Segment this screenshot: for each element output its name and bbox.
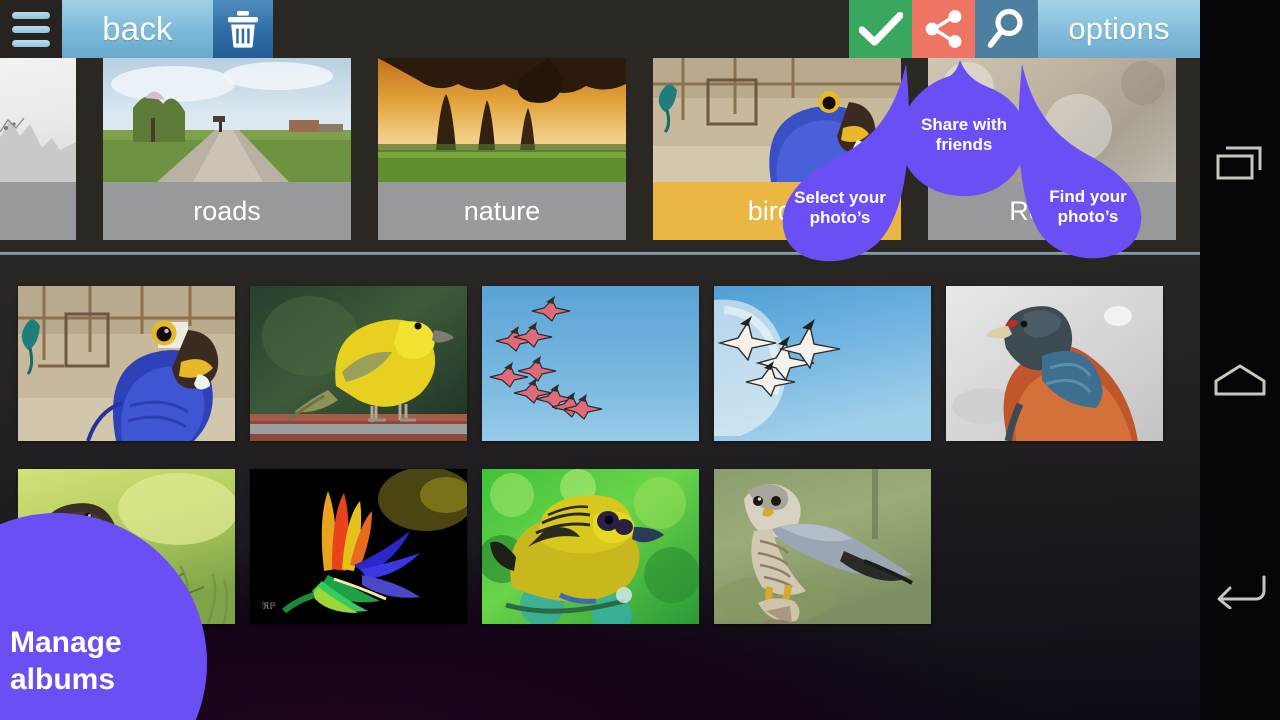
hamburger-menu-icon [12, 40, 50, 47]
album-item[interactable] [0, 58, 76, 240]
yellow-canary-photo[interactable] [250, 286, 467, 441]
hamburger-menu-icon [12, 12, 50, 19]
tooltip-text: Manage albums [4, 624, 194, 699]
hamburger-menu-button[interactable] [0, 0, 62, 58]
search-button[interactable] [975, 0, 1038, 58]
home-icon [1214, 363, 1266, 397]
album-label: nature [378, 182, 626, 240]
back-button[interactable]: back [62, 0, 213, 58]
album-label: roads [103, 182, 351, 240]
delete-button[interactable] [213, 0, 273, 58]
recents-button[interactable] [1200, 110, 1280, 220]
share-icon [924, 9, 964, 49]
svg-text:ℜℙ: ℜℙ [262, 601, 276, 611]
back-button-nav[interactable] [1200, 535, 1280, 645]
photo-grid-row [18, 286, 1182, 441]
flamingos-flying-photo[interactable] [482, 286, 699, 441]
green-yellow-tanager-photo[interactable] [482, 469, 699, 624]
album-item-nature[interactable]: nature [378, 58, 626, 240]
tooltip-share-friends[interactable]: Share with friends [898, 60, 1030, 200]
top-toolbar: back [0, 0, 1200, 58]
magnifier-icon [987, 8, 1027, 50]
album-item-roads[interactable]: roads [103, 58, 351, 240]
back-arrow-icon [1214, 571, 1266, 609]
screen-root: back [0, 0, 1280, 720]
check-icon [859, 11, 903, 47]
home-button[interactable] [1200, 325, 1280, 435]
tooltip-text: Find your photo’s [1025, 187, 1151, 226]
blue-orange-bird-photo[interactable] [946, 286, 1163, 441]
tooltip-text: Share with friends [902, 115, 1026, 154]
options-button[interactable]: options [1038, 0, 1200, 58]
android-navigation-bar [1200, 0, 1280, 720]
album-label [0, 182, 76, 240]
bird-of-paradise-flower-photo[interactable]: ℜℙ [250, 469, 467, 624]
select-photos-button[interactable] [849, 0, 912, 58]
tooltip-find-photos[interactable]: Find your photo’s [1018, 62, 1152, 260]
album-thumbnail [103, 58, 351, 182]
trash-icon [226, 10, 260, 48]
falcon-on-post-photo[interactable] [714, 469, 931, 624]
album-thumbnail [0, 58, 76, 182]
blue-macaw-photo[interactable] [18, 286, 235, 441]
tooltip-text: Select your photo’s [774, 188, 906, 227]
toolbar-spacer [273, 0, 849, 58]
album-thumbnail [378, 58, 626, 182]
share-button[interactable] [912, 0, 975, 58]
tooltip-manage-albums[interactable]: Manage albums [0, 513, 207, 720]
gallery-app: back [0, 0, 1200, 720]
recents-icon [1216, 146, 1264, 184]
geese-flying-photo[interactable] [714, 286, 931, 441]
tooltip-select-photos[interactable]: Select your photo’s [772, 62, 912, 262]
hamburger-menu-icon [12, 26, 50, 33]
